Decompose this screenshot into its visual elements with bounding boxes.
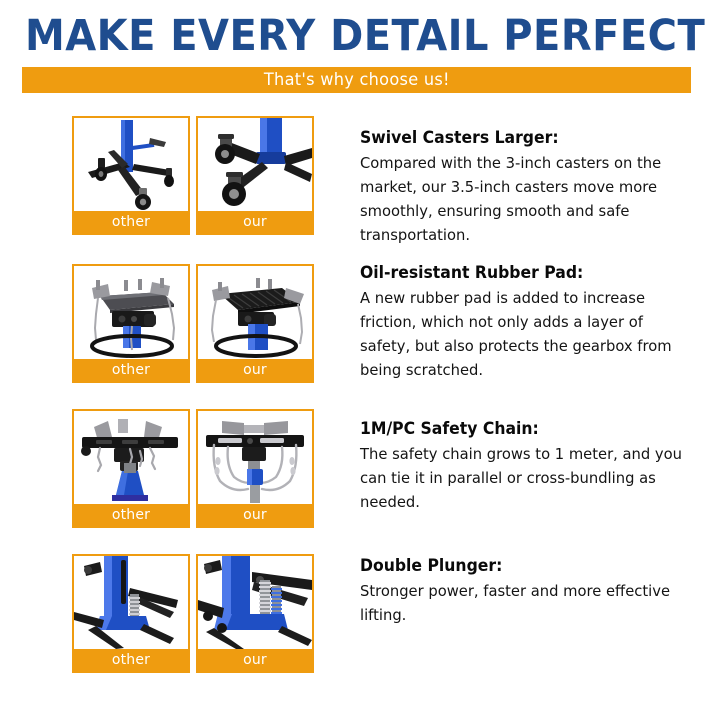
feature-heading: 1M/PC Safety Chain: (360, 419, 673, 439)
feature-heading: Swivel Casters Larger: (360, 128, 673, 148)
comparison-cell-rubber-pad-other[interactable]: other (72, 264, 190, 383)
feature-heading: Oil-resistant Rubber Pad: (360, 263, 673, 283)
feature-heading: Double Plunger: (360, 556, 673, 576)
comparison-cell-safety-chain-other[interactable]: other (72, 409, 190, 528)
product-photo-plunger-our (198, 556, 312, 649)
comparison-label-other: other (74, 504, 188, 526)
comparison-label-our: our (198, 211, 312, 233)
comparison-cell-rubber-pad-our[interactable]: our (196, 264, 314, 383)
comparison-cell-casters-our[interactable]: our (196, 116, 314, 235)
feature-body: The safety chain grows to 1 meter, and y… (360, 442, 690, 514)
comparison-cell-safety-chain-our[interactable]: our (196, 409, 314, 528)
product-photo-safety-chain-our (198, 411, 312, 504)
feature-body: Compared with the 3-inch casters on the … (360, 151, 690, 247)
comparison-cell-plunger-other[interactable]: other (72, 554, 190, 673)
product-photo-safety-chain-other (74, 411, 188, 504)
product-photo-rubber-pad-other (74, 266, 188, 359)
comparison-label-other: other (74, 649, 188, 671)
infographic-page: MAKE EVERY DETAIL PERFECT That's why cho… (0, 0, 713, 713)
comparison-label-our: our (198, 649, 312, 671)
product-photo-plunger-other (74, 556, 188, 649)
comparison-label-other: other (74, 211, 188, 233)
feature-safety-chain: 1M/PC Safety Chain: The safety chain gro… (360, 419, 700, 514)
comparison-cell-plunger-our[interactable]: our (196, 554, 314, 673)
page-title: MAKE EVERY DETAIL PERFECT (25, 12, 688, 60)
feature-rubber-pad: Oil-resistant Rubber Pad: A new rubber p… (360, 263, 700, 382)
feature-double-plunger: Double Plunger: Stronger power, faster a… (360, 556, 700, 627)
feature-swivel-casters: Swivel Casters Larger: Compared with the… (360, 128, 700, 247)
comparison-label-our: our (198, 504, 312, 526)
product-photo-casters-other (74, 118, 188, 211)
comparison-label-other: other (74, 359, 188, 381)
feature-body: Stronger power, faster and more effectiv… (360, 579, 690, 627)
subtitle-text: That's why choose us! (264, 70, 450, 90)
feature-body: A new rubber pad is added to increase fr… (360, 286, 690, 382)
comparison-label-our: our (198, 359, 312, 381)
product-photo-rubber-pad-our (198, 266, 312, 359)
product-photo-casters-our (198, 118, 312, 211)
comparison-cell-casters-other[interactable]: other (72, 116, 190, 235)
subtitle-banner: That's why choose us! (22, 67, 691, 93)
